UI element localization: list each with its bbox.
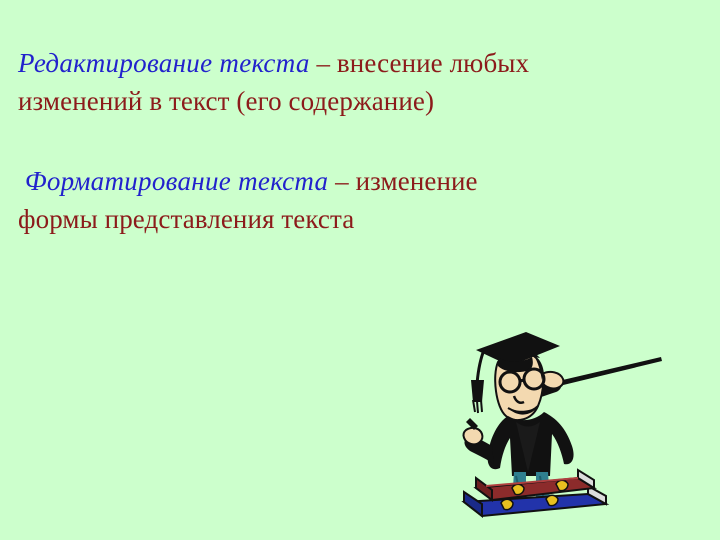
paragraph-formatting: Форматирование текста – изменение формы … (0, 162, 700, 238)
definition-formatting-line-1: – изменение (328, 166, 477, 196)
left-hand-holding-chalk (464, 418, 483, 444)
definition-editing-line-2: изменений в текст (его содержание) (18, 86, 434, 116)
term-editing: Редактирование текста (18, 48, 310, 78)
paragraph-editing-line-2: изменений в текст (его содержание) (18, 82, 690, 120)
definition-formatting-line-2: формы представления текста (18, 204, 354, 234)
professor-with-pointer-on-books-image (446, 326, 674, 518)
paragraph-editing: Редактирование текста – внесение любых и… (0, 44, 700, 120)
mortarboard-cap-icon (476, 332, 560, 372)
gown-body (488, 412, 574, 476)
pointer-stick-icon (554, 357, 662, 387)
paragraph-editing-line-1: Редактирование текста – внесение любых (18, 44, 690, 82)
cap-tassel-icon (471, 350, 484, 413)
definition-editing-line-1: – внесение любых (310, 48, 530, 78)
slide-canvas: Редактирование текста – внесение любых и… (0, 0, 720, 540)
term-formatting: Форматирование текста (25, 166, 328, 196)
paragraph-formatting-line-1: Форматирование текста – изменение (18, 162, 690, 200)
paragraph-formatting-indent (18, 166, 25, 196)
paragraph-formatting-line-2: формы представления текста (18, 200, 690, 238)
